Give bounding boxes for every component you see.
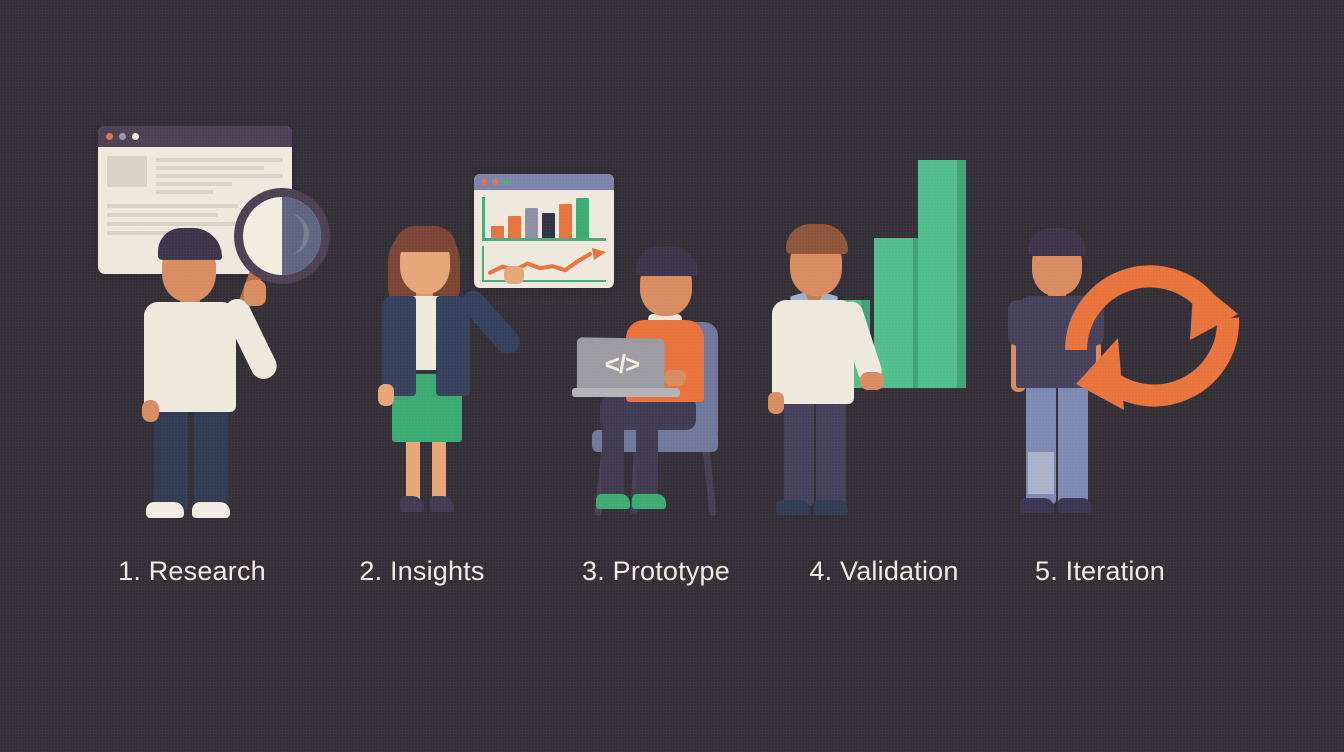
shoe-right [632,494,666,509]
person-researcher [136,228,276,520]
validation-bar [918,160,966,388]
chart-bar [525,208,538,238]
hand-left [142,400,159,422]
chart-bar [576,198,589,238]
hand-left [378,384,394,406]
hair-front [394,226,456,252]
text-line [156,182,232,186]
legs [152,406,230,514]
leg-left [784,398,814,506]
leg-right [816,398,846,506]
iteration-cycle-icon [1062,232,1242,432]
window-maximize-dot-icon [503,179,509,185]
leg-left [154,406,188,510]
laptop: </> [578,338,670,400]
window-minimize-dot-icon [492,179,498,185]
leg-right [194,406,228,510]
image-placeholder [107,156,147,187]
hand-right [244,280,266,306]
text-line [156,158,283,162]
step-labels: 1. Research 2. Insights 3. Prototype 4. … [0,548,1344,598]
shoe-right [814,500,848,515]
text-line [107,204,238,208]
hair [636,246,698,276]
torso-sweater [144,302,236,412]
window-minimize-dot-icon [119,133,126,140]
shoe-left [596,494,630,509]
text-line [156,166,264,170]
refresh-arrows-svg [1062,232,1242,432]
jacket-left [382,296,416,396]
bar-side [957,160,966,388]
shoe-left [400,496,424,512]
shin-right [636,426,658,500]
window-close-dot-icon [106,133,113,140]
window-maximize-dot-icon [132,133,139,140]
leg-right [432,438,446,502]
laptop-screen: </> [577,337,665,391]
text-line [156,174,283,178]
panel-titlebar [474,174,614,190]
leg-left [406,438,420,502]
shoe-right [1058,498,1092,513]
window-close-dot-icon [481,179,487,185]
illustration-canvas: </> [0,0,1344,752]
hand-right [860,372,884,390]
step-label-iteration: 5. Iteration [976,548,1224,594]
hand-left [768,392,784,414]
shoe-right [192,502,230,518]
step-label-insights: 2. Insights [290,548,554,594]
hair [786,224,848,254]
person-validator [762,224,892,520]
chart-bar [542,213,555,238]
jeans-patch [1028,452,1054,494]
browser-titlebar [98,126,292,147]
text-line [156,190,213,194]
laptop-keyboard-base [572,388,680,397]
code-brackets-icon: </> [605,351,639,377]
shoe-right [430,496,454,512]
shoe-left [776,500,810,515]
person-analyst [368,224,518,520]
shoe-left [1020,498,1054,513]
chart-bar [559,204,572,238]
sleeve-left [1008,300,1030,346]
shin-left [602,426,624,500]
hand-pointing [504,266,524,284]
hair [158,228,222,260]
text-line [107,213,218,217]
text-line [107,222,238,226]
shoe-left [146,502,184,518]
